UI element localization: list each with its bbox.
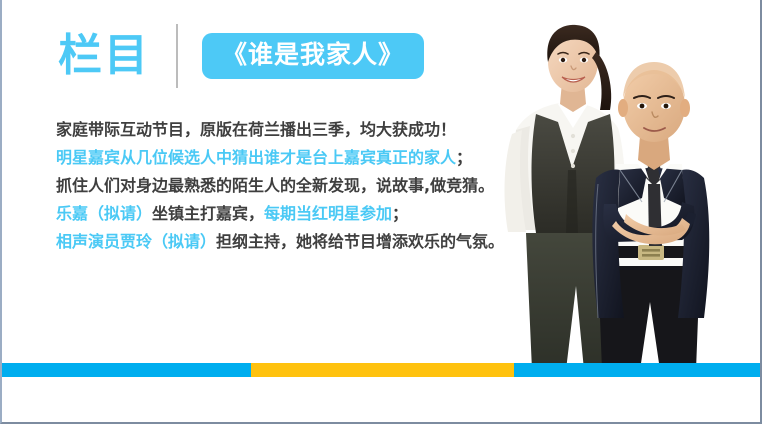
slide-canvas: 栏目 《谁是我家人》 家庭带际互动节目，原版在荷兰播出三季，均大获成功！明星嘉宾… xyxy=(0,0,762,424)
copy-segment: 明星嘉宾从几位候选人中猜出谁才是台上嘉宾真正的家人 xyxy=(56,148,456,167)
bar-left-blue xyxy=(2,363,251,377)
vertical-divider-icon xyxy=(176,24,178,88)
copy-segment: 家庭带际互动节目，原版在荷兰播出三季，均大获成功！ xyxy=(56,120,456,139)
copy-line-1: 家庭带际互动节目，原版在荷兰播出三季，均大获成功！ xyxy=(56,116,526,144)
copy-segment: 每期当红明星参加 xyxy=(264,204,392,223)
copy-line-5: 相声演员贾玲（拟请）担纲主持，她将给节目增添欢乐的气氛。 xyxy=(56,228,526,256)
copy-segment: 乐嘉（拟请） xyxy=(56,204,152,223)
program-title-badge: 《谁是我家人》 xyxy=(202,33,424,80)
copy-segment: 担纲主持，她将给节目增添欢乐的气氛。 xyxy=(216,232,504,251)
copy-segment: 相声演员贾玲（拟请） xyxy=(56,232,216,251)
footer-color-bar xyxy=(2,363,760,377)
copy-segment: 坐镇主打嘉宾， xyxy=(152,204,264,223)
body-copy: 家庭带际互动节目，原版在荷兰播出三季，均大获成功！明星嘉宾从几位候选人中猜出谁才… xyxy=(56,116,526,256)
copy-line-3: 抓住人们对身边最熟悉的陌生人的全新发现，说故事,做竞猜。 xyxy=(56,172,526,200)
copy-line-4: 乐嘉（拟请）坐镇主打嘉宾，每期当红明星参加； xyxy=(56,200,526,228)
copy-segment: 抓住人们对身边最熟悉的陌生人的全新发现，说故事,做竞猜。 xyxy=(56,176,494,195)
bar-right-blue xyxy=(514,363,760,377)
copy-line-2: 明星嘉宾从几位候选人中猜出谁才是台上嘉宾真正的家人； xyxy=(56,144,526,172)
hosts-photo xyxy=(492,18,742,370)
slide-header: 栏目 《谁是我家人》 xyxy=(58,22,424,90)
copy-segment: ； xyxy=(456,148,472,167)
bar-middle-yellow xyxy=(251,363,515,377)
copy-segment: ； xyxy=(392,204,408,223)
header-kicker: 栏目 xyxy=(58,34,150,78)
